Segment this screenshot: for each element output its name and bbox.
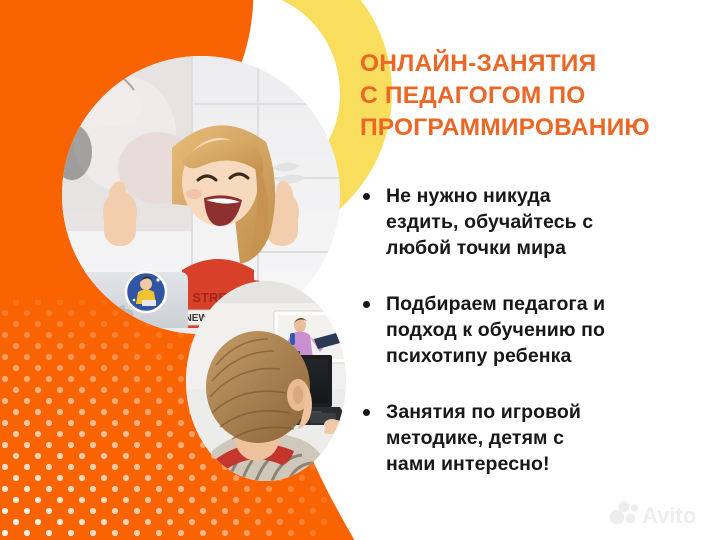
list-item: Занятия по игровой методике, детям с нам… [360,400,680,478]
content-column: ОНЛАЙН-ЗАНЯТИЯ С ПЕДАГОГОМ ПО ПРОГРАММИР… [360,0,720,540]
list-item-line: подход к обучению по [386,318,680,344]
promo-banner: STREET NEW YORK [0,0,720,540]
photo-boy-at-laptop [186,281,346,481]
list-item: Не нужно никуда ездить, обучайтесь с люб… [360,184,680,262]
list-item-line: Подбираем педагога и [386,292,680,318]
list-item-line: Занятия по игровой [386,400,680,426]
headline-line-1: ОНЛАЙН-ЗАНЯТИЯ [360,48,680,80]
list-item-line: методике, детям с [386,426,680,452]
list-item-line: ездить, обучайтесь с [386,210,680,236]
list-item-line: Не нужно никуда [386,184,680,210]
list-item-line: нами интересно! [386,452,680,478]
bullet-dot-icon [363,193,370,200]
bullet-dot-icon [363,409,370,416]
page-title: ОНЛАЙН-ЗАНЯТИЯ С ПЕДАГОГОМ ПО ПРОГРАММИР… [360,48,680,144]
list-item-line: любой точки мира [386,236,680,262]
laptop-sticker-boy [126,272,166,312]
bullet-dot-icon [363,301,370,308]
headline-line-3: ПРОГРАММИРОВАНИЮ [360,112,680,144]
list-item-line: психотипу ребенка [386,344,680,370]
headline-line-2: С ПЕДАГОГОМ ПО [360,80,680,112]
benefits-list: Не нужно никуда ездить, обучайтесь с люб… [360,184,680,477]
list-item: Подбираем педагога и подход к обучению п… [360,292,680,370]
